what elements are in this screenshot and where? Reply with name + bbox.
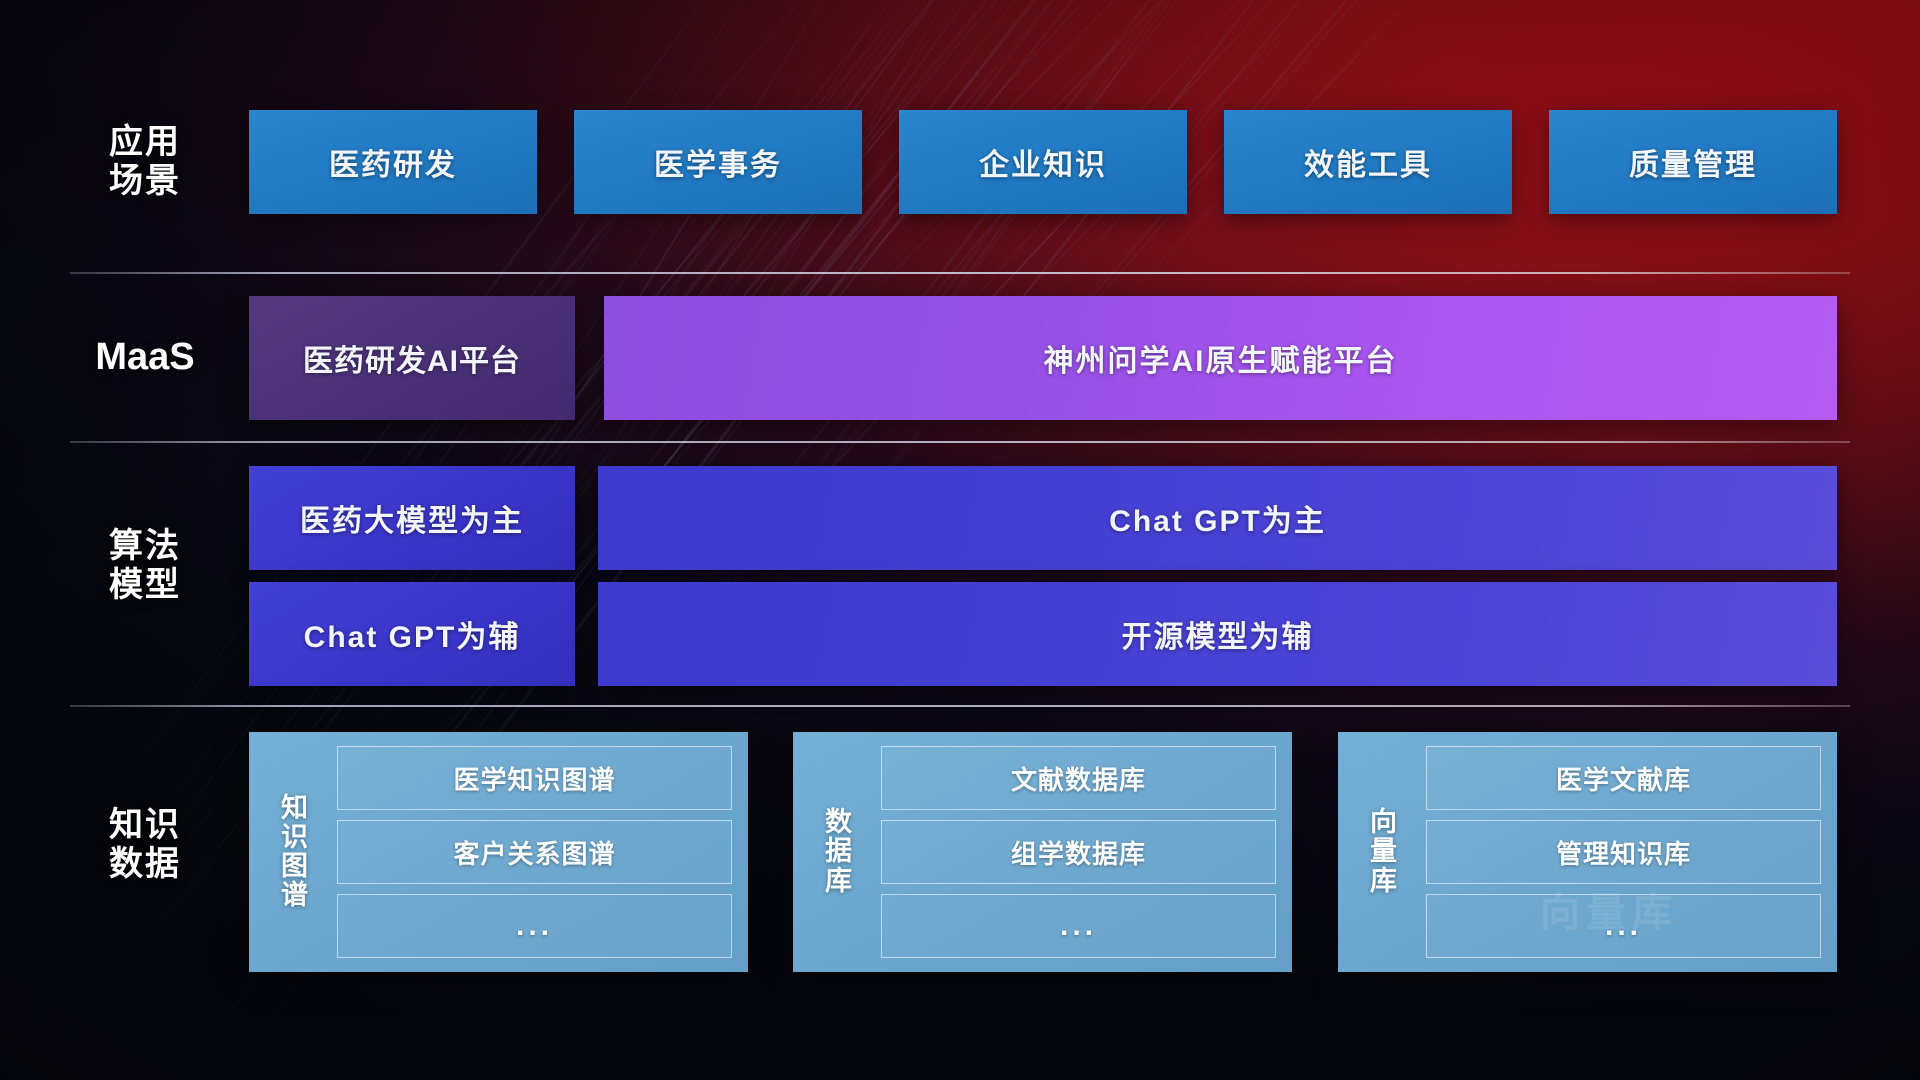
divider-application-maas [70,272,1850,274]
knowledge-item[interactable]: 管理知识库 [1426,820,1821,884]
knowledge-item[interactable]: 医学文献库 [1426,746,1821,810]
knowledge-group-title-knowledge-graph: 知 识 图 谱 [265,746,325,958]
row-label-maas: MaaS [80,296,210,418]
knowledge-item-more[interactable]: ... [1426,894,1821,958]
algorithm-right-box-2[interactable]: 开源模型为辅 [598,582,1837,686]
row-label-application-scenario: 应用 场景 [80,112,210,212]
application-box-4[interactable]: 效能工具 [1224,110,1512,214]
knowledge-item-more[interactable]: ... [337,894,732,958]
row-label-line: 模型 [109,566,181,605]
knowledge-group-title-database: 数 据 库 [809,746,869,958]
maas-enablement-platform-bar[interactable]: 神州问学AI原生赋能平台 [604,296,1837,420]
vertical-title-char: 知 [281,794,309,823]
vertical-title-char: 量 [1370,837,1398,866]
vertical-title-char: 库 [1370,867,1398,896]
row-label-line: 应用 [109,123,181,162]
vertical-title-char: 库 [825,867,853,896]
knowledge-group-database[interactable]: 数 据 库 文献数据库 组学数据库 ... [793,732,1292,972]
vertical-title-char: 向 [1370,808,1398,837]
application-box-3[interactable]: 企业知识 [899,110,1187,214]
vertical-title-char: 图 [281,852,309,881]
row-label-line: 数据 [109,845,181,884]
knowledge-group-items: 医学文献库 管理知识库 ... [1426,746,1821,958]
knowledge-group-items: 医学知识图谱 客户关系图谱 ... [337,746,732,958]
algorithm-left-box-2[interactable]: Chat GPT为辅 [249,582,575,686]
row-label-line: MaaS [95,335,194,379]
application-box-1[interactable]: 医药研发 [249,110,537,214]
vertical-title-char: 谱 [281,881,309,910]
row-label-line: 知识 [109,806,181,845]
application-box-5[interactable]: 质量管理 [1549,110,1837,214]
row-label-knowledge-data: 知识 数据 [80,730,210,960]
row-label-line: 场景 [109,162,181,201]
application-box-2[interactable]: 医学事务 [574,110,862,214]
divider-maas-algorithm [70,441,1850,443]
vertical-title-char: 识 [281,823,309,852]
knowledge-group-knowledge-graph[interactable]: 知 识 图 谱 医学知识图谱 客户关系图谱 ... [249,732,748,972]
row-label-line: 算法 [109,527,181,566]
knowledge-group-vector-database[interactable]: 向 量 库 医学文献库 管理知识库 ... [1338,732,1837,972]
maas-platform-box[interactable]: 医药研发AI平台 [249,296,575,420]
architecture-diagram: 应用 场景 医药研发 医学事务 企业知识 效能工具 质量管理 MaaS 医药研发… [0,0,1920,1080]
knowledge-item[interactable]: 客户关系图谱 [337,820,732,884]
knowledge-item[interactable]: 医学知识图谱 [337,746,732,810]
knowledge-item-more[interactable]: ... [881,894,1276,958]
row-label-algorithm-model: 算法 模型 [80,466,210,666]
algorithm-left-box-1[interactable]: 医药大模型为主 [249,466,575,570]
knowledge-item[interactable]: 文献数据库 [881,746,1276,810]
divider-algorithm-knowledge [70,705,1850,707]
knowledge-group-title-vector-database: 向 量 库 [1354,746,1414,958]
algorithm-right-box-1[interactable]: Chat GPT为主 [598,466,1837,570]
vertical-title-char: 数 [825,808,853,837]
vertical-title-char: 据 [825,837,853,866]
knowledge-group-items: 文献数据库 组学数据库 ... [881,746,1276,958]
knowledge-item[interactable]: 组学数据库 [881,820,1276,884]
